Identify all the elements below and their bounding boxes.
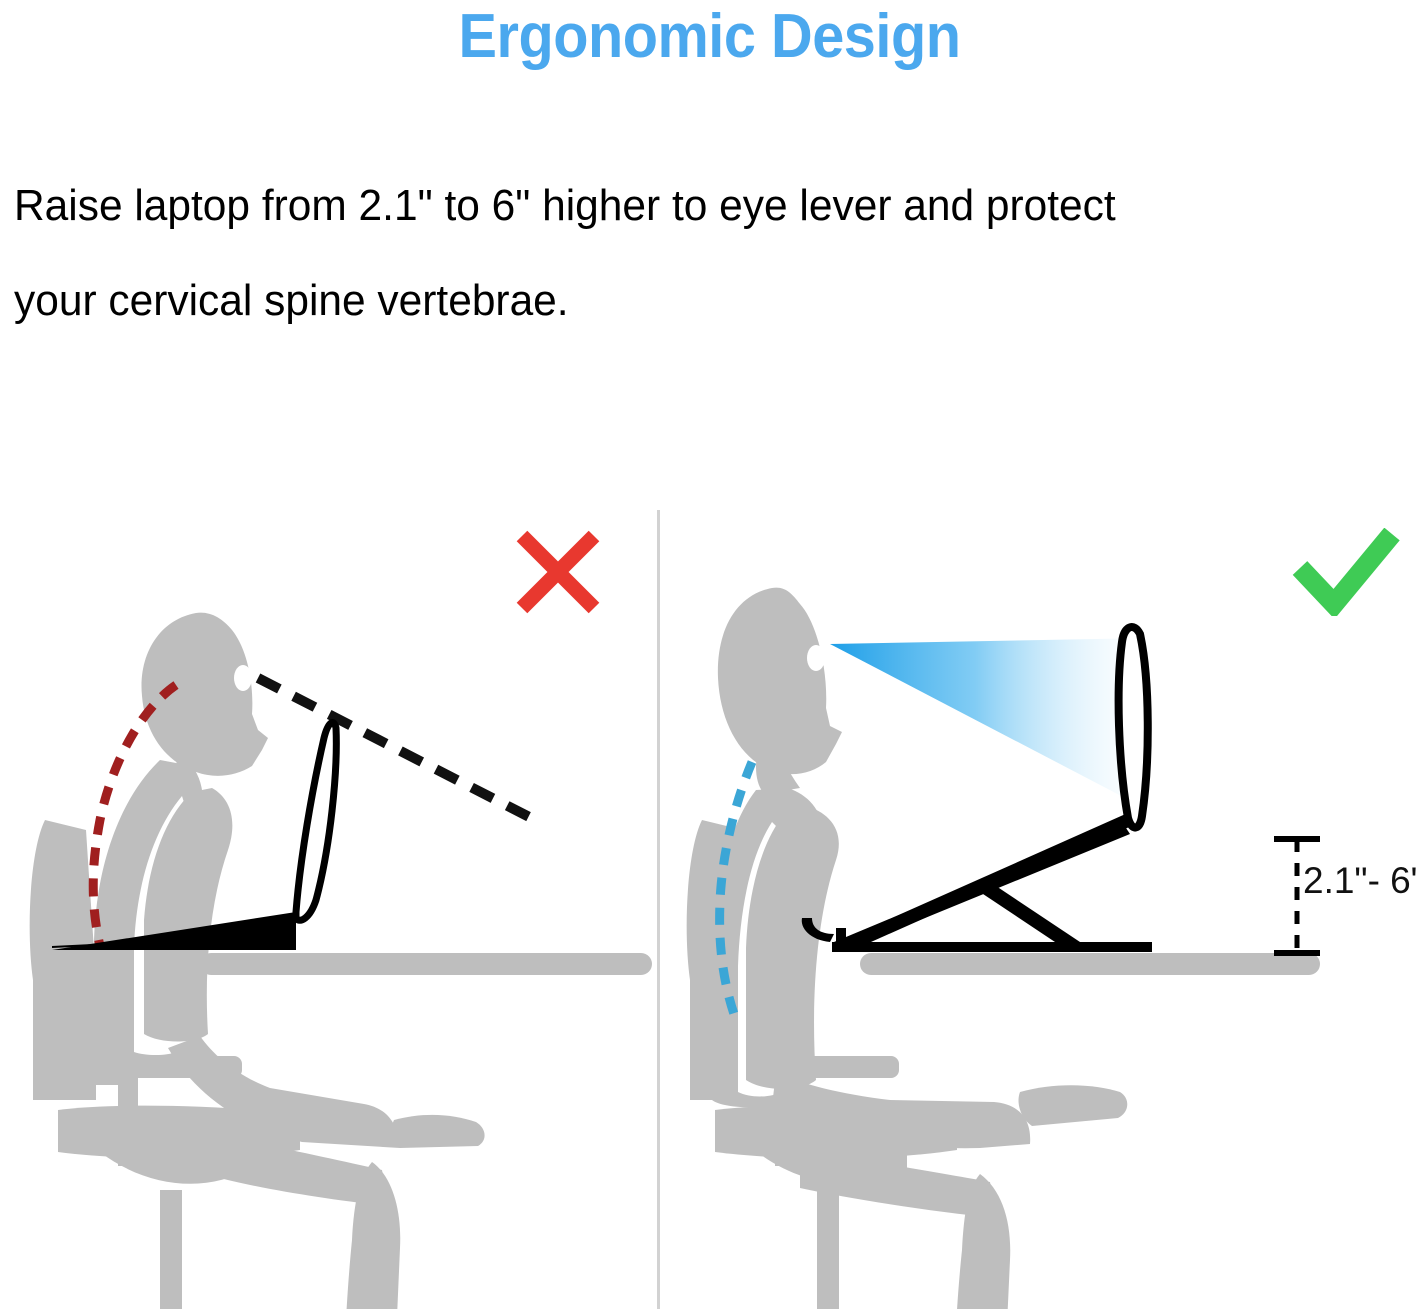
red-x-icon: [512, 528, 604, 616]
desk-surface-right: [860, 953, 1320, 975]
panel-correct-posture: [660, 500, 1419, 1309]
incorrect-posture-illustration: [0, 500, 657, 1309]
description-text: Raise laptop from 2.1" to 6" higher to e…: [14, 158, 1355, 348]
page-title: Ergonomic Design: [50, 2, 1370, 72]
description-line-1: Raise laptop from 2.1" to 6" higher to e…: [14, 158, 1355, 253]
desk-surface-left: [200, 953, 652, 975]
correct-posture-illustration: [660, 500, 1419, 1309]
vision-cone: [830, 638, 1152, 812]
sight-line-downward: [258, 678, 541, 823]
infographic-page: Ergonomic Design Raise laptop from 2.1" …: [0, 0, 1419, 1309]
description-line-2: your cervical spine vertebrae.: [14, 253, 1355, 348]
panel-incorrect-posture: [0, 500, 657, 1309]
height-measurement-label: 2.1"- 6": [1303, 860, 1419, 902]
green-check-icon: [1292, 528, 1400, 616]
